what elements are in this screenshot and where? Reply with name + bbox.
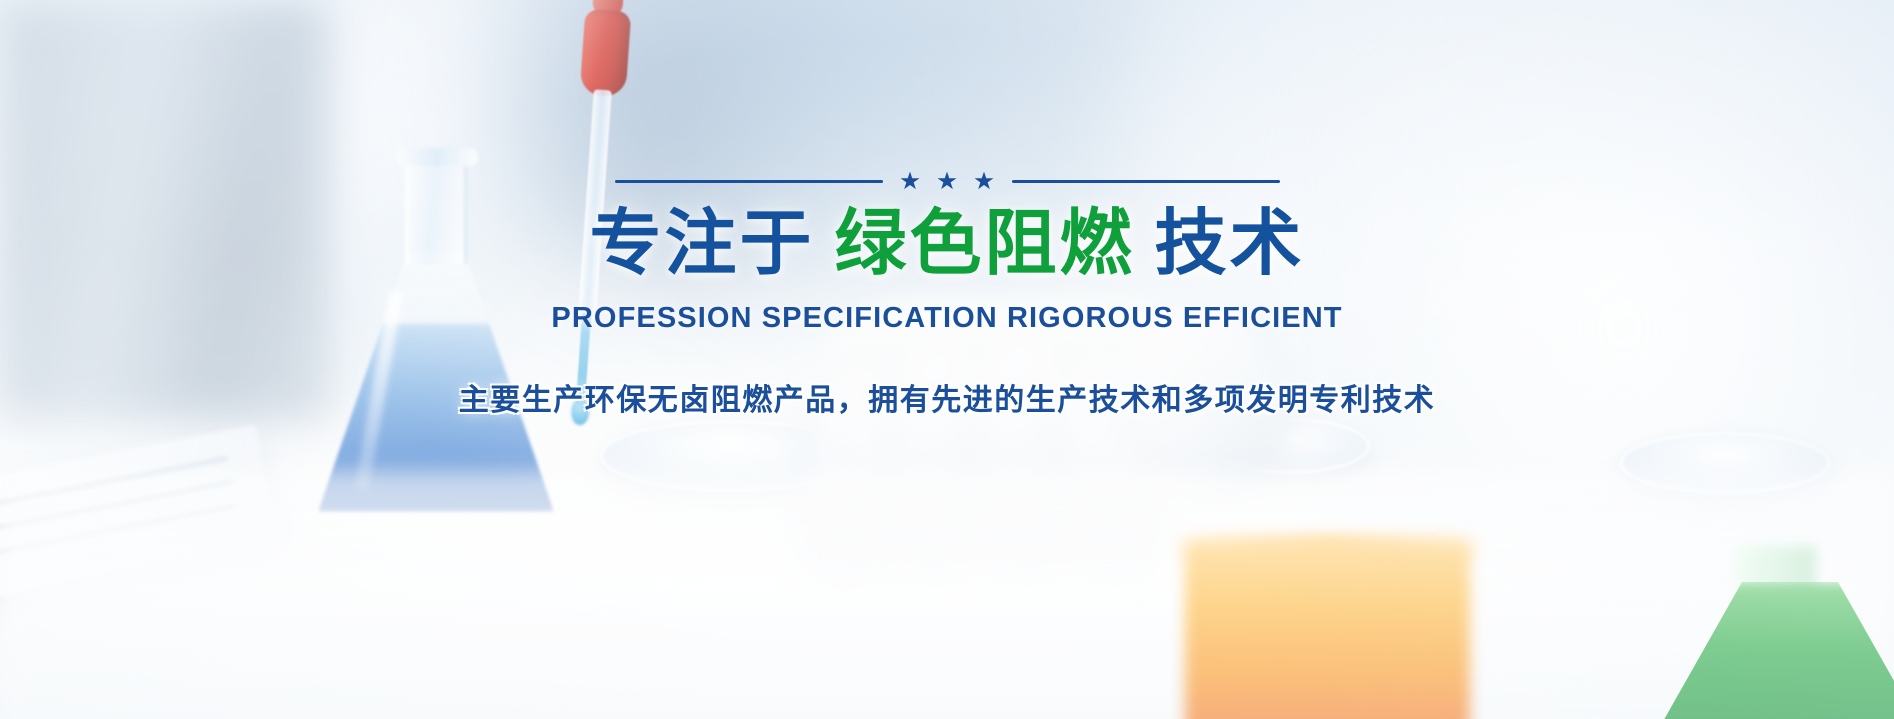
tagline-chinese: 主要生产环保无卤阻燃产品，拥有先进的生产技术和多项发明专利技术 bbox=[459, 375, 1436, 419]
headline-part-2: 绿色阻燃 bbox=[834, 206, 1134, 284]
subtitle-english: PROFESSION SPECIFICATION RIGOROUS EFFICI… bbox=[551, 302, 1342, 335]
rule-left bbox=[615, 180, 883, 183]
headline-part-3: 技术 bbox=[1155, 206, 1305, 284]
rule-right bbox=[1012, 180, 1280, 183]
hero-banner: 专注于 绿色阻燃 技术 PROFESSION SPECIFICATION RIG… bbox=[0, 0, 1894, 719]
star-icon bbox=[901, 172, 920, 191]
star-icon bbox=[938, 172, 957, 191]
headline-part-1: 专注于 bbox=[589, 206, 814, 284]
star-icon bbox=[975, 172, 994, 191]
star-group bbox=[897, 172, 998, 191]
page-title: 专注于 绿色阻燃 技术 bbox=[589, 206, 1304, 284]
hero-content: 专注于 绿色阻燃 技术 PROFESSION SPECIFICATION RIG… bbox=[0, 0, 1894, 719]
decorative-rule-row bbox=[567, 170, 1327, 192]
